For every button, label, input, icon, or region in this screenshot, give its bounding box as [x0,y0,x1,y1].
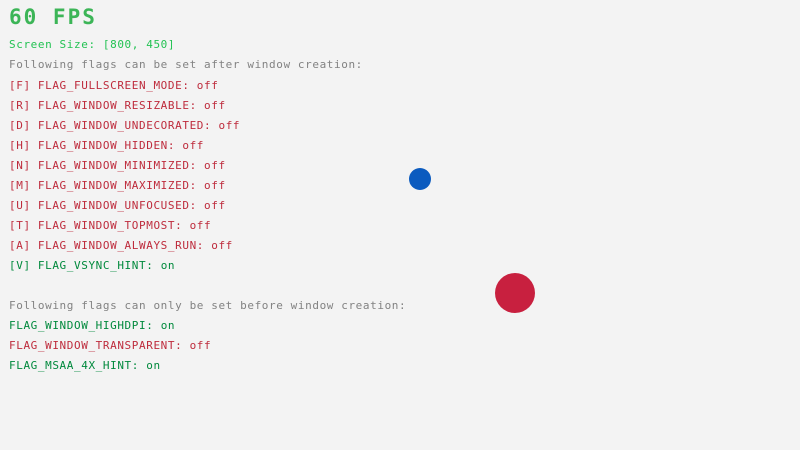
flag-value: on [161,319,175,332]
flag-row[interactable]: [N] FLAG_WINDOW_MINIMIZED: off [9,159,226,172]
flag-shortcut-key: [M] [9,179,38,192]
flag-value: on [146,359,160,372]
flag-name: FLAG_WINDOW_UNDECORATED: [38,119,219,132]
flag-name: FLAG_WINDOW_MAXIMIZED: [38,179,204,192]
flag-shortcut-key: [F] [9,79,38,92]
flag-value: on [161,259,175,272]
flag-row[interactable]: [F] FLAG_FULLSCREEN_MODE: off [9,79,218,92]
flag-shortcut-key: [U] [9,199,38,212]
flag-value: off [197,79,219,92]
red-circle [495,273,535,313]
flag-name: FLAG_VSYNC_HINT: [38,259,161,272]
flag-row[interactable]: [A] FLAG_WINDOW_ALWAYS_RUN: off [9,239,233,252]
flag-row: FLAG_WINDOW_HIGHDPI: on [9,319,175,332]
flag-name: FLAG_WINDOW_TOPMOST: [38,219,190,232]
flag-name: FLAG_WINDOW_UNFOCUSED: [38,199,204,212]
flag-name: FLAG_WINDOW_RESIZABLE: [38,99,204,112]
flag-shortcut-key: [N] [9,159,38,172]
flag-name: FLAG_WINDOW_MINIMIZED: [38,159,204,172]
flag-value: off [182,139,204,152]
fps-counter: 60 FPS [9,6,97,28]
flag-name: FLAG_WINDOW_HIGHDPI: [9,319,161,332]
flag-row: FLAG_WINDOW_TRANSPARENT: off [9,339,211,352]
flag-shortcut-key: [H] [9,139,38,152]
flag-shortcut-key: [R] [9,99,38,112]
flag-value: off [204,99,226,112]
flag-value: off [190,219,212,232]
flag-value: off [204,199,226,212]
flag-name: FLAG_FULLSCREEN_MODE: [38,79,197,92]
screen-size-label: Screen Size: [800, 450] [9,38,175,51]
flag-shortcut-key: [T] [9,219,38,232]
flag-row[interactable]: [U] FLAG_WINDOW_UNFOCUSED: off [9,199,226,212]
flag-row: FLAG_MSAA_4X_HINT: on [9,359,161,372]
flag-row[interactable]: [T] FLAG_WINDOW_TOPMOST: off [9,219,211,232]
flag-row[interactable]: [H] FLAG_WINDOW_HIDDEN: off [9,139,204,152]
flag-name: FLAG_MSAA_4X_HINT: [9,359,146,372]
flag-shortcut-key: [V] [9,259,38,272]
flag-value: off [190,339,212,352]
flag-name: FLAG_WINDOW_ALWAYS_RUN: [38,239,211,252]
flag-value: off [204,179,226,192]
flag-name: FLAG_WINDOW_HIDDEN: [38,139,182,152]
flag-shortcut-key: [A] [9,239,38,252]
blue-circle [409,168,431,190]
flag-value: off [204,159,226,172]
runtime-flags-header: Following flags can be set after window … [9,58,363,71]
creation-flags-header: Following flags can only be set before w… [9,299,406,312]
flag-row[interactable]: [M] FLAG_WINDOW_MAXIMIZED: off [9,179,226,192]
flag-name: FLAG_WINDOW_TRANSPARENT: [9,339,190,352]
raylib-window-canvas[interactable]: 60 FPS Screen Size: [800, 450] Following… [0,0,800,450]
flag-row[interactable]: [R] FLAG_WINDOW_RESIZABLE: off [9,99,226,112]
flag-row[interactable]: [D] FLAG_WINDOW_UNDECORATED: off [9,119,240,132]
flag-shortcut-key: [D] [9,119,38,132]
flag-row[interactable]: [V] FLAG_VSYNC_HINT: on [9,259,175,272]
flag-value: off [211,239,233,252]
flag-value: off [218,119,240,132]
